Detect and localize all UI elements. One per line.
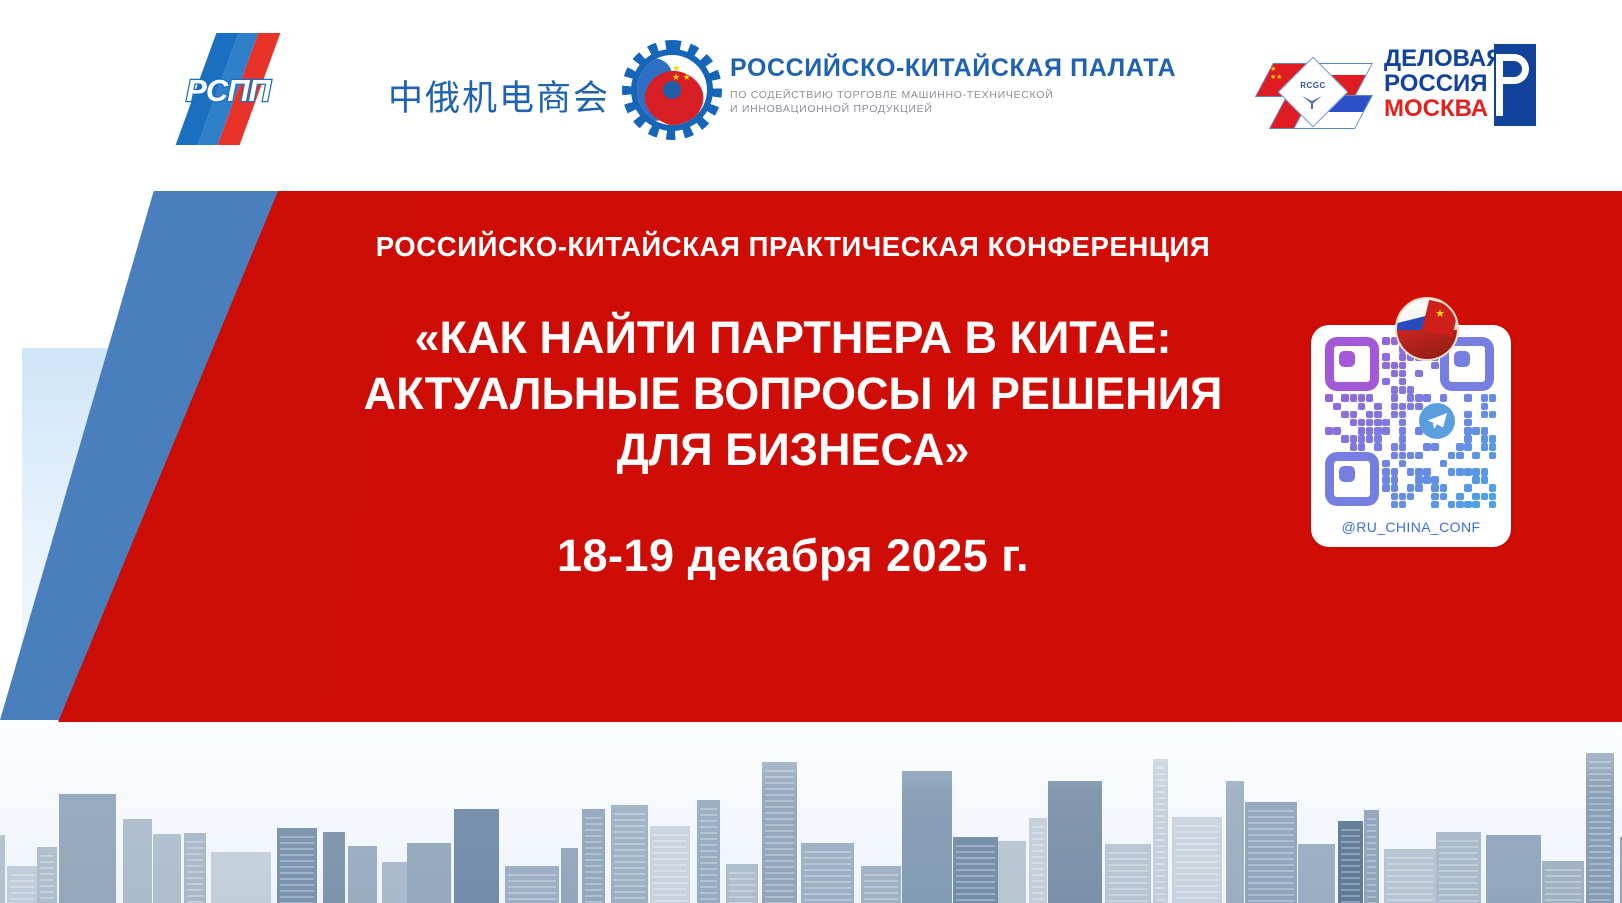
qr-module [1456, 493, 1464, 501]
delros-d-mark-icon [1494, 44, 1536, 126]
qr-module [1472, 501, 1480, 509]
qr-module [1358, 403, 1366, 411]
skyline-building-windows [1032, 826, 1044, 903]
skyline-building-windows [1341, 829, 1360, 903]
skyline-building-windows [40, 855, 54, 903]
qr-module [1374, 411, 1382, 419]
qr-module [1456, 468, 1464, 476]
skyline-building-windows [653, 834, 687, 903]
qr-module [1431, 501, 1439, 509]
city-skyline-image [0, 700, 1622, 903]
skyline-building [454, 809, 499, 903]
qr-module [1399, 452, 1407, 460]
qr-module [1391, 386, 1399, 394]
qr-module [1415, 476, 1423, 484]
chamber-title: РОССИЙСКО-КИТАЙСКАЯ ПАЛАТА [730, 54, 1150, 83]
qr-module [1481, 493, 1489, 501]
conference-title-line-3: ДЛЯ БИЗНЕСА» [278, 422, 1308, 478]
gear-inner-disc: ★★ ★ [637, 55, 707, 125]
rspp-logo-letters: РСПП [164, 73, 292, 109]
qr-module [1382, 460, 1390, 468]
qr-module [1407, 386, 1415, 394]
qr-module [1456, 452, 1464, 460]
qr-module [1374, 403, 1382, 411]
qr-module [1481, 427, 1489, 435]
conference-date: 18-19 декабря 2025 г. [278, 530, 1308, 582]
qr-module [1382, 353, 1390, 361]
qr-module [1391, 493, 1399, 501]
qr-module [1464, 468, 1472, 476]
qr-module [1423, 476, 1431, 484]
qr-module [1440, 493, 1448, 501]
qr-module [1382, 378, 1390, 386]
skyline-building [1048, 781, 1102, 903]
qr-module [1350, 394, 1358, 402]
qr-module [1333, 427, 1341, 435]
skyline-building [348, 846, 377, 903]
qr-module [1358, 435, 1366, 443]
skyline-building-windows [956, 845, 995, 903]
skyline-building-windows [864, 874, 898, 903]
chamber-name-block: РОССИЙСКО-КИТАЙСКАЯ ПАЛАТА ПО СОДЕЙСТВИЮ… [730, 54, 1150, 116]
qr-module [1489, 493, 1497, 501]
qr-module [1382, 476, 1390, 484]
qr-module [1382, 484, 1390, 492]
qr-module [1431, 493, 1439, 501]
emblem-center-dot [663, 81, 681, 99]
chamber-gear-emblem-icon: ★★ ★ [622, 40, 722, 140]
skyline-building-windows [804, 851, 851, 903]
qr-module [1333, 403, 1341, 411]
qr-module [1341, 411, 1349, 419]
qr-finder-pattern [1325, 337, 1379, 391]
qr-module [1489, 443, 1497, 451]
skyline-building-windows [1387, 857, 1433, 903]
qr-module [1399, 460, 1407, 468]
qr-module [1464, 419, 1472, 427]
qr-module [1489, 411, 1497, 419]
qr-module [1481, 476, 1489, 484]
qr-module [1399, 362, 1407, 370]
qr-finder-pattern [1325, 452, 1379, 506]
qr-module [1415, 370, 1423, 378]
qr-module [1366, 411, 1374, 419]
qr-module [1391, 370, 1399, 378]
avatar-china-star-icon: ★ [1435, 309, 1445, 320]
qr-module [1358, 419, 1366, 427]
qr-module [1391, 362, 1399, 370]
skyline-building-windows [508, 874, 556, 903]
conference-title: «КАК НАЙТИ ПАРТНЕРА В КИТАЕ: АКТУАЛЬНЫЕ … [278, 310, 1308, 478]
qr-module [1415, 452, 1423, 460]
qr-module [1391, 394, 1399, 402]
conference-title-line-1: «КАК НАЙТИ ПАРТНЕРА В КИТАЕ: [278, 310, 1308, 366]
qr-module [1456, 501, 1464, 509]
qr-module [1325, 427, 1333, 435]
qr-module [1472, 452, 1480, 460]
skyline-building [1226, 781, 1244, 903]
qr-module [1431, 484, 1439, 492]
conference-banner: РСПП 中俄机电商会 ★★ ★ РОССИЙСКО-КИТАЙСКАЯ ПАЛ… [0, 0, 1622, 903]
qr-module [1391, 403, 1399, 411]
qr-module [1366, 394, 1374, 402]
qr-module [1481, 411, 1489, 419]
rcgc-bird-icon [1301, 93, 1323, 111]
skyline-building [998, 841, 1026, 903]
telegram-icon [1419, 403, 1455, 439]
skyline-building-windows [1545, 869, 1581, 903]
skyline-building [1298, 844, 1335, 903]
qr-module [1440, 460, 1448, 468]
qr-module [1440, 484, 1448, 492]
qr-module [1399, 435, 1407, 443]
channel-avatar: ★ [1395, 297, 1459, 361]
qr-module [1407, 493, 1415, 501]
qr-module [1341, 435, 1349, 443]
qr-module [1374, 427, 1382, 435]
qr-module [1464, 427, 1472, 435]
qr-module [1440, 394, 1448, 402]
skyline-building-windows [585, 817, 602, 903]
skyline-building-windows [1439, 840, 1478, 903]
qr-module [1431, 362, 1439, 370]
qr-module [1415, 394, 1423, 402]
qr-module [1358, 394, 1366, 402]
qr-module [1481, 403, 1489, 411]
qr-module [1391, 452, 1399, 460]
skyline-building-windows [765, 770, 794, 903]
skyline-building [211, 852, 271, 903]
qr-module [1472, 427, 1480, 435]
skyline-building [123, 819, 152, 903]
qr-module [1481, 435, 1489, 443]
qr-module [1407, 403, 1415, 411]
qr-module [1374, 435, 1382, 443]
qr-module [1399, 403, 1407, 411]
qr-module [1399, 419, 1407, 427]
qr-module [1415, 468, 1423, 476]
chamber-subtitle-line-1: ПО СОДЕЙСТВИЮ ТОРГОВЛЕ МАШИННО-ТЕХНИЧЕСК… [730, 88, 1150, 102]
qr-module [1382, 337, 1390, 345]
skyline-building [59, 794, 116, 903]
qr-module [1448, 501, 1456, 509]
qr-module [1489, 484, 1497, 492]
qr-module [1350, 443, 1358, 451]
qr-module [1399, 443, 1407, 451]
qr-module [1481, 394, 1489, 402]
qr-module [1366, 427, 1374, 435]
conference-kicker: РОССИЙСКО-КИТАЙСКАЯ ПРАКТИЧЕСКАЯ КОНФЕРЕ… [278, 230, 1308, 264]
rcgc-china-stars-icon: ★★★ [1270, 66, 1283, 82]
qr-module [1431, 443, 1439, 451]
qr-module [1481, 468, 1489, 476]
qr-module [1448, 452, 1456, 460]
skyline-building-windows [280, 836, 314, 903]
conference-title-line-2: АКТУАЛЬНЫЕ ВОПРОСЫ И РЕШЕНИЯ [278, 366, 1308, 422]
qr-module [1407, 468, 1415, 476]
qr-module [1350, 411, 1358, 419]
qr-module [1391, 476, 1399, 484]
conference-text-block: РОССИЙСКО-КИТАЙСКАЯ ПРАКТИЧЕСКАЯ КОНФЕРЕ… [278, 230, 1308, 582]
qr-module [1358, 427, 1366, 435]
skyline-building [0, 835, 5, 903]
qr-module [1341, 394, 1349, 402]
qr-module [1472, 493, 1480, 501]
skyline-building [323, 832, 345, 903]
qr-module [1464, 411, 1472, 419]
partner-logos-strip: РСПП 中俄机电商会 ★★ ★ РОССИЙСКО-КИТАЙСКАЯ ПАЛ… [0, 0, 1622, 191]
skyline-building-windows [1156, 767, 1165, 903]
qr-module [1391, 484, 1399, 492]
qr-module [1399, 378, 1407, 386]
skyline-building [407, 843, 451, 903]
qr-module [1472, 476, 1480, 484]
skyline-building-windows [700, 808, 717, 903]
rspp-logo: РСПП [168, 33, 288, 145]
qr-module [1391, 443, 1399, 451]
qr-module [1464, 435, 1472, 443]
qr-module [1448, 468, 1456, 476]
qr-module [1358, 443, 1366, 451]
skyline-building [1486, 835, 1541, 903]
skyline-building-windows [1367, 818, 1376, 903]
qr-module [1399, 493, 1407, 501]
qr-module [1489, 394, 1497, 402]
qr-module [1382, 362, 1390, 370]
qr-module [1431, 476, 1439, 484]
qr-module [1382, 419, 1390, 427]
chamber-subtitle-line-2: И ИННОВАЦИОННОЙ ПРОДУКЦИЕЙ [730, 102, 1150, 116]
qr-module [1407, 452, 1415, 460]
skyline-building-windows [187, 841, 203, 903]
delros-mark-bowl [1503, 54, 1529, 84]
qr-module [1366, 419, 1374, 427]
skyline-building [902, 771, 952, 903]
qr-module [1489, 435, 1497, 443]
qr-module [1382, 427, 1390, 435]
qr-module [1481, 443, 1489, 451]
qr-module [1391, 411, 1399, 419]
qr-module [1350, 419, 1358, 427]
qr-module [1407, 484, 1415, 492]
qr-module [1399, 370, 1407, 378]
qr-module [1464, 394, 1472, 402]
qr-module [1456, 443, 1464, 451]
rcgc-emblem: ★★★ RCGC [1258, 45, 1366, 145]
skyline-building-windows [1108, 852, 1148, 903]
qr-module [1391, 501, 1399, 509]
qr-module [1374, 419, 1382, 427]
qr-module [1407, 394, 1415, 402]
skyline-building-windows [614, 813, 645, 903]
qr-module [1464, 484, 1472, 492]
skyline-building-windows [1589, 761, 1611, 903]
skyline-building [382, 862, 407, 903]
qr-code-image[interactable] [1325, 337, 1497, 509]
telegram-handle: @RU_CHINA_CONF [1311, 519, 1511, 535]
qr-module [1374, 443, 1382, 451]
rcgc-label: RCGC [1289, 81, 1337, 90]
skyline-building-windows [1175, 825, 1219, 903]
qr-module [1350, 435, 1358, 443]
qr-module [1415, 484, 1423, 492]
qr-module [1472, 468, 1480, 476]
skyline-building-windows [1248, 810, 1294, 903]
qr-module [1391, 468, 1399, 476]
delros-mark-stem [1496, 54, 1503, 116]
qr-module [1399, 501, 1407, 509]
qr-module [1464, 443, 1472, 451]
qr-module [1423, 443, 1431, 451]
skyline-building-windows [729, 872, 755, 903]
qr-module [1399, 386, 1407, 394]
qr-module [1464, 501, 1472, 509]
skyline-building [153, 834, 181, 903]
skyline-building-windows [10, 874, 34, 903]
qr-module [1489, 501, 1497, 509]
qr-module [1399, 411, 1407, 419]
qr-module [1489, 452, 1497, 460]
qr-module [1423, 468, 1431, 476]
qr-module [1325, 394, 1333, 402]
qr-module [1382, 468, 1390, 476]
qr-module [1423, 394, 1431, 402]
qr-module [1415, 403, 1423, 411]
skyline-building [561, 848, 578, 903]
qr-module [1366, 435, 1374, 443]
qr-module [1399, 427, 1407, 435]
chinese-chamber-name: 中俄机电商会 [388, 70, 610, 121]
